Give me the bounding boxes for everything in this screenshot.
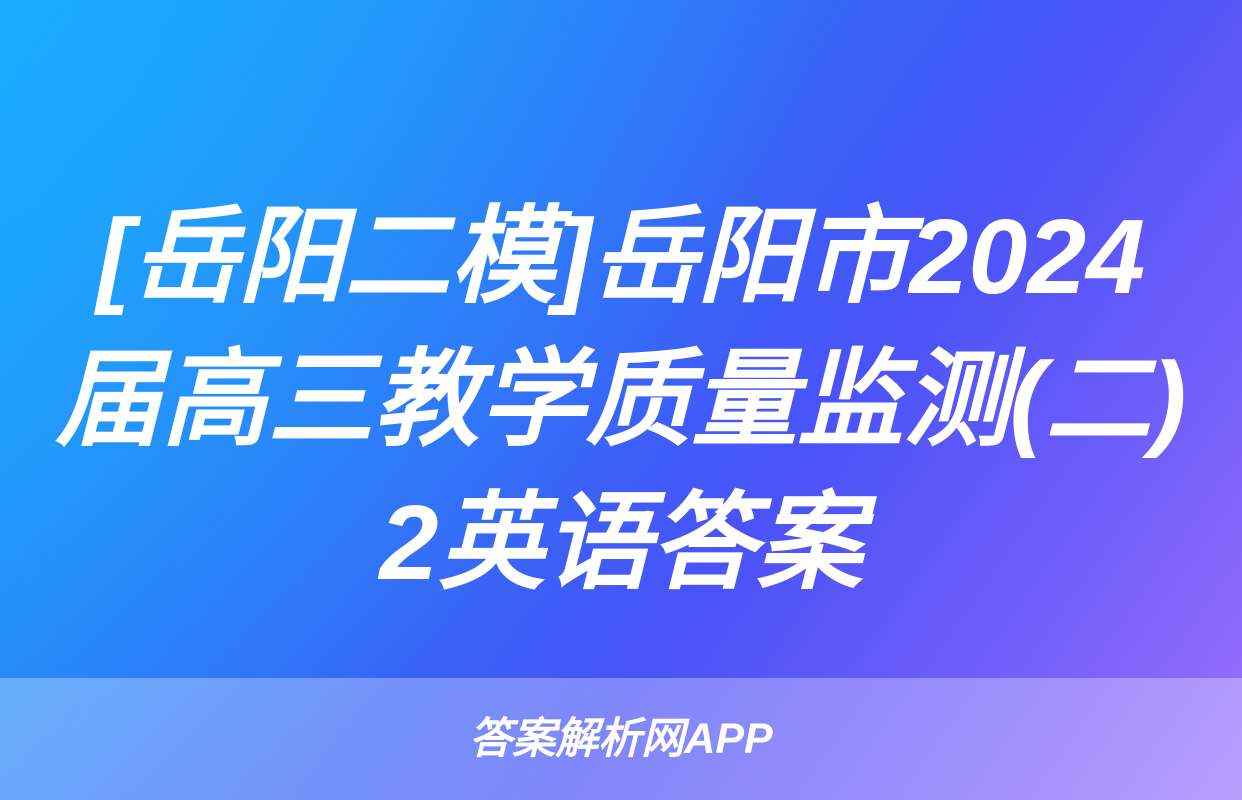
title-line-2: 届高三教学质量监测(二) [40,329,1202,472]
title-line-1: [岳阳二模]岳阳市2024 [40,186,1202,329]
page-title: [岳阳二模]岳阳市2024 届高三教学质量监测(二) 2英语答案 [0,186,1242,615]
title-line-3: 2英语答案 [40,472,1202,615]
app-watermark-label: 答案解析网APP [469,714,772,764]
app-watermark-bar: 答案解析网APP [0,678,1242,800]
poster-canvas: [岳阳二模]岳阳市2024 届高三教学质量监测(二) 2英语答案 答案解析网AP… [0,0,1242,800]
